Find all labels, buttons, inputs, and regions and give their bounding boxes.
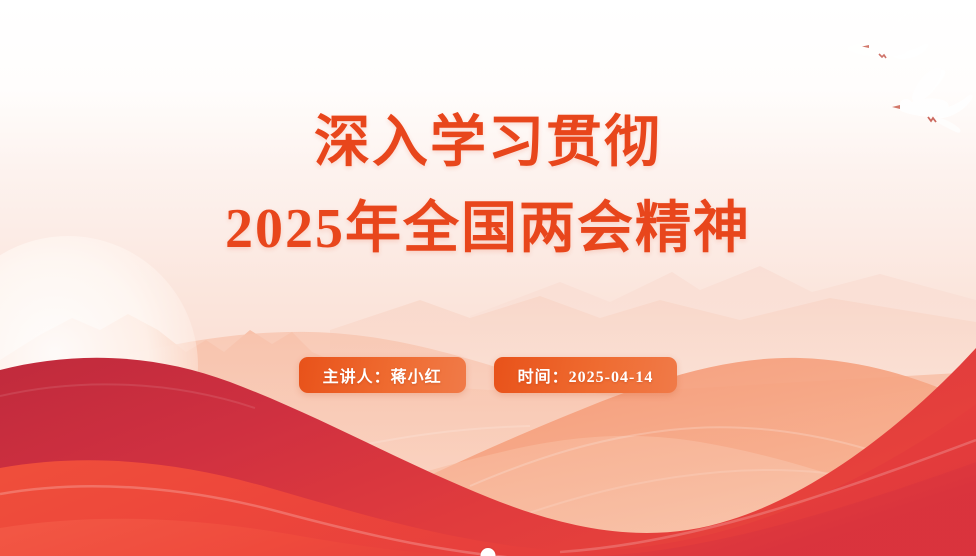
date-badge[interactable]: 时间：2025-04-14 — [494, 357, 678, 393]
speaker-badge[interactable]: 主讲人：蒋小红 — [299, 357, 466, 393]
title-line-1: 深入学习贯彻 — [0, 108, 976, 180]
background-mountains — [0, 0, 976, 556]
title-line-2: 2025年全国两会精神 — [0, 194, 976, 266]
doves-decoration — [826, 0, 976, 140]
presentation-slide: 深入学习贯彻 2025年全国两会精神 主讲人：蒋小红 时间：2025-04-14 — [0, 0, 976, 556]
dove-upper-icon — [848, 12, 928, 59]
dove-lower-icon — [892, 68, 972, 133]
meta-badges: 主讲人：蒋小红 时间：2025-04-14 — [0, 357, 976, 393]
background-waves — [0, 0, 976, 556]
slide-title: 深入学习贯彻 2025年全国两会精神 — [0, 108, 976, 265]
page-indicator-dot[interactable] — [481, 548, 496, 556]
